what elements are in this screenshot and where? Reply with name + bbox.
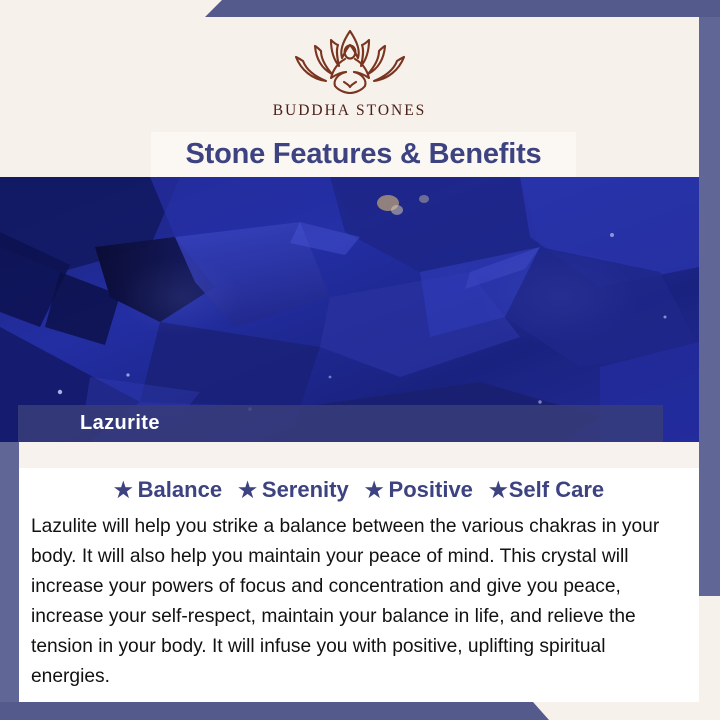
keyword-label: Balance bbox=[138, 477, 222, 503]
brand-logo: BUDDHA STONES bbox=[0, 26, 699, 120]
page-title: Stone Features & Benefits bbox=[186, 138, 542, 171]
left-decorative-strip bbox=[0, 442, 19, 702]
brand-name: BUDDHA STONES bbox=[273, 102, 427, 120]
stone-benefits-poster: BUDDHA STONES Stone Features & Benefits bbox=[0, 0, 720, 720]
star-icon: ★ bbox=[365, 480, 384, 501]
right-strip-cap bbox=[699, 0, 720, 17]
keyword-label: Self Care bbox=[509, 477, 604, 503]
benefits-paragraph: Lazulite will help you strike a balance … bbox=[31, 512, 689, 692]
bottom-decorative-band bbox=[0, 702, 720, 720]
star-icon: ★ bbox=[238, 480, 257, 501]
right-decorative-strip bbox=[699, 0, 720, 596]
title-banner: Stone Features & Benefits bbox=[151, 132, 576, 177]
lotus-meditation-icon bbox=[276, 26, 424, 98]
stone-name-banner: Lazurite bbox=[18, 405, 663, 442]
keyword-positive: ★ Positive bbox=[365, 477, 473, 503]
keyword-label: Positive bbox=[389, 477, 473, 503]
keyword-balance: ★ Balance bbox=[114, 477, 222, 503]
keyword-serenity: ★ Serenity bbox=[238, 477, 349, 503]
star-icon: ★ bbox=[114, 480, 133, 501]
benefits-card: ★ Balance ★ Serenity ★ Positive ★ Self C… bbox=[19, 442, 699, 702]
stone-name-label: Lazurite bbox=[80, 412, 160, 435]
star-icon: ★ bbox=[489, 480, 508, 501]
stone-photo bbox=[0, 177, 699, 442]
keyword-row: ★ Balance ★ Serenity ★ Positive ★ Self C… bbox=[19, 477, 699, 503]
card-top-tint bbox=[19, 442, 699, 468]
keyword-label: Serenity bbox=[262, 477, 349, 503]
top-decorative-band bbox=[0, 0, 720, 17]
keyword-self-care: ★ Self Care bbox=[489, 477, 604, 503]
